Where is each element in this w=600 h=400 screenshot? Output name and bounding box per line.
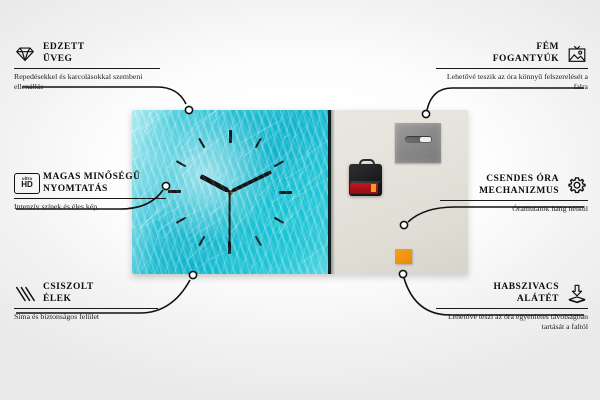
divider: [436, 68, 588, 69]
clock-tick: [168, 191, 230, 193]
clock-tick: [229, 130, 231, 192]
callout-title: MAGAS MINŐSÉGŰNYOMTATÁS: [43, 172, 141, 195]
product-photo: [132, 110, 468, 274]
mechanism-loop: [359, 159, 375, 168]
clock-mechanism-box: [349, 164, 382, 196]
picture-hanger-icon: [566, 43, 588, 65]
divider: [14, 198, 166, 199]
polished-edges-icon: [14, 283, 36, 305]
gear-icon: [566, 175, 588, 197]
callout-title: EDZETTÜVEG: [43, 42, 85, 65]
divider: [14, 68, 160, 69]
callout-description: Óramutatók hang nélkül: [440, 204, 588, 214]
callout-tempered-glass: EDZETTÜVEG Repedésekkel és karcolásokkal…: [14, 42, 160, 91]
divider: [14, 308, 158, 309]
divider: [440, 200, 588, 201]
callout-title: HABSZIVACSALÁTÉT: [493, 282, 559, 305]
callout-foam-pad: HABSZIVACSALÁTÉT Lehetővé teszi az óra e…: [436, 282, 588, 331]
battery: [350, 183, 378, 193]
callout-description: Sima és biztonságos felület: [14, 312, 158, 322]
callout-header: EDZETTÜVEG: [14, 42, 160, 65]
callout-description: Lehetővé teszi az óra egyenletes távolsá…: [436, 312, 588, 331]
connector-line-4: [427, 88, 584, 110]
callout-description: Lehetővé teszik az óra könnyű felszerelé…: [436, 72, 588, 91]
callout-description: Repedésekkel és karcolásokkal szembeni e…: [14, 72, 160, 91]
callout-header: FÉMFOGANTYÚK: [436, 42, 588, 65]
diamond-icon: [14, 43, 36, 65]
callout-polished-edges: CSISZOLTÉLEK Sima és biztonságos felület: [14, 282, 158, 322]
callout-metal-hangers: FÉMFOGANTYÚK Lehetővé teszik az óra könn…: [436, 42, 588, 91]
callout-quiet-mechanism: CSENDES ÓRAMECHANIZMUS Óramutatók hang n…: [440, 174, 588, 214]
callout-title: CSISZOLTÉLEK: [43, 282, 94, 305]
hanger-slot: [405, 136, 433, 143]
clock-tick: [176, 191, 231, 224]
clock-hand-sec: [229, 192, 231, 244]
hanger-plate: [395, 123, 441, 163]
divider: [436, 308, 588, 309]
callout-header: CSENDES ÓRAMECHANIZMUS: [440, 174, 588, 197]
clock-tick: [230, 191, 292, 193]
infographic-stage: EDZETTÜVEG Repedésekkel és karcolásokkal…: [0, 0, 600, 400]
callout-description: Intenzív színek és éles kép: [14, 202, 166, 212]
callout-header: ultra HD MAGAS MINŐSÉGŰNYOMTATÁS: [14, 172, 166, 195]
callout-high-quality-print: ultra HD MAGAS MINŐSÉGŰNYOMTATÁS Intenzí…: [14, 172, 166, 212]
callout-header: HABSZIVACSALÁTÉT: [436, 282, 588, 305]
foam-pad: [395, 249, 412, 264]
ultra-hd-icon-bottom: HD: [21, 181, 33, 189]
callout-title: FÉMFOGANTYÚK: [493, 42, 559, 65]
callout-title: CSENDES ÓRAMECHANIZMUS: [479, 174, 559, 197]
callout-header: CSISZOLTÉLEK: [14, 282, 158, 305]
foam-pad-icon: [566, 283, 588, 305]
ultra-hd-icon: ultra HD: [14, 173, 36, 195]
